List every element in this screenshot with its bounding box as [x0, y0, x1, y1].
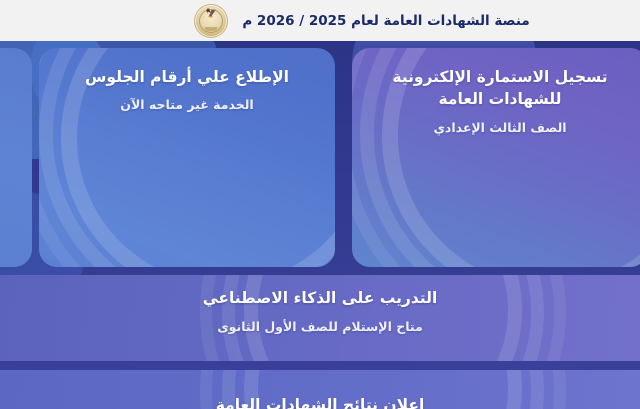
card-registration-title: تسجيل الاستمارة الإلكترونية للشهادات الع…	[352, 66, 640, 111]
arc-ring	[222, 275, 544, 361]
card-seat-numbers-subtitle: الخدمة غير متاحه الآن	[39, 97, 335, 112]
arc-ring	[244, 275, 522, 361]
band-ai-training-title: التدريب على الذكاء الاصطناعي	[0, 289, 640, 307]
emblem-base-shape	[205, 27, 218, 31]
header-content: منصة الشهادات العامة لعام 2025 / 2026 م …	[194, 4, 529, 38]
band-ai-training-subtitle: متاح الإستلام للصف الأول الثانوى	[0, 319, 640, 334]
band-results[interactable]: إعلان نتائج الشهادات العامة	[0, 370, 640, 409]
card-arc-decoration	[0, 48, 32, 267]
content-stage: تسجيل الاستمارة الإلكترونية للشهادات الع…	[0, 41, 640, 409]
page-header: منصة الشهادات العامة لعام 2025 / 2026 م …	[0, 0, 640, 41]
certificates-platform-page: منصة الشهادات العامة لعام 2025 / 2026 م …	[0, 0, 640, 409]
card-seat-numbers-title: الإطلاع علي أرقام الجلوس	[39, 66, 335, 88]
card-registration[interactable]: تسجيل الاستمارة الإلكترونية للشهادات الع…	[352, 48, 640, 267]
band-arc-decoration	[0, 275, 640, 361]
card-partial-left[interactable]	[0, 48, 32, 267]
band-results-title: إعلان نتائج الشهادات العامة	[0, 396, 640, 409]
arc-ring	[200, 275, 566, 361]
card-seat-numbers[interactable]: الإطلاع علي أرقام الجلوس الخدمة غير متاح…	[39, 48, 335, 267]
page-title: منصة الشهادات العامة لعام 2025 / 2026 م	[242, 13, 529, 29]
emblem-eagle-glyph: 🦅	[206, 10, 217, 19]
band-ai-training[interactable]: التدريب على الذكاء الاصطناعي متاح الإستل…	[0, 275, 640, 361]
card-registration-subtitle: الصف الثالث الإعدادي	[352, 120, 640, 135]
service-card-row: تسجيل الاستمارة الإلكترونية للشهادات الع…	[0, 48, 640, 267]
band-separator	[0, 361, 640, 370]
eagle-emblem-icon: 🦅	[194, 4, 228, 38]
